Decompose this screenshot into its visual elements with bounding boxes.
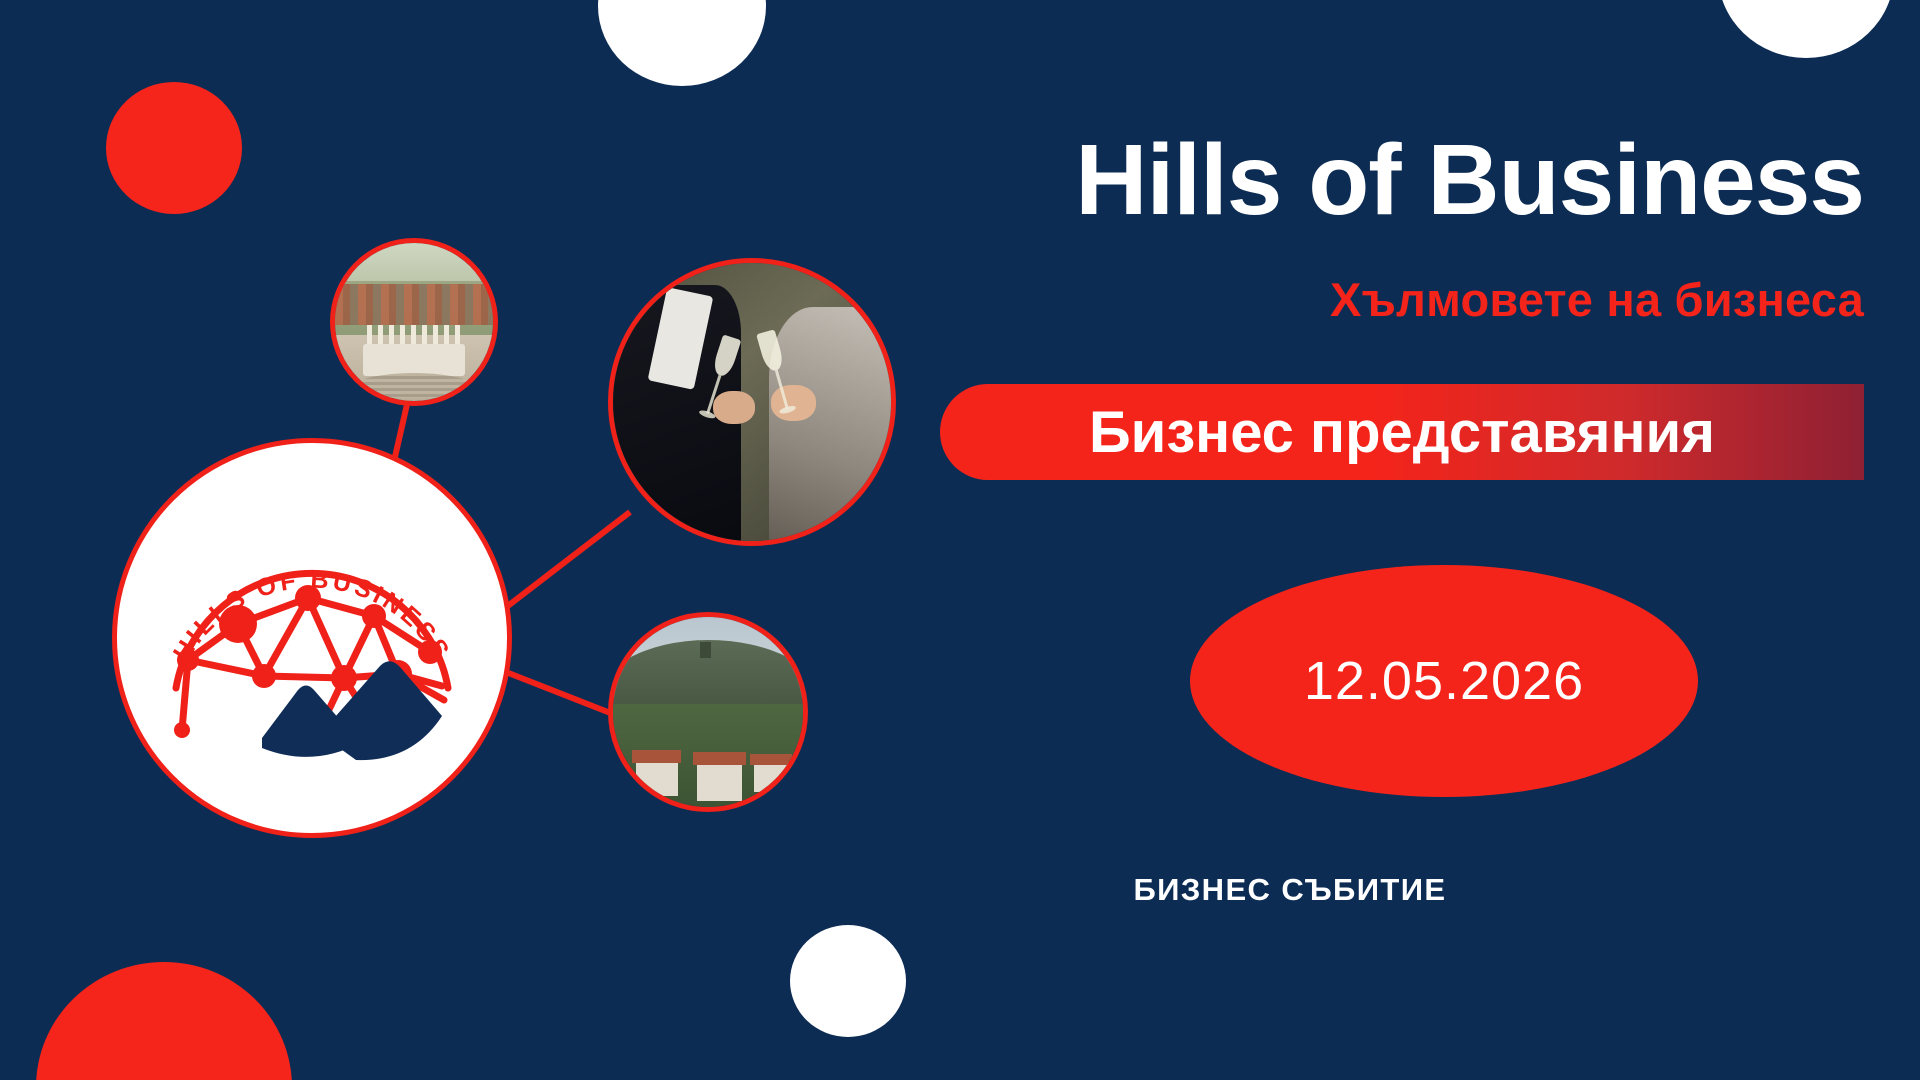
- date-label: 12.05.2026: [1304, 650, 1584, 712]
- ribbon-banner: Бизнес представяния: [940, 384, 1864, 480]
- date-badge: 12.05.2026: [1190, 565, 1698, 797]
- photo-plovdiv-amphitheatre: [330, 238, 498, 406]
- logo-hills-of-business: HILLS OF BUSINESS: [112, 438, 512, 838]
- logo-artwork: HILLS OF BUSINESS: [112, 438, 512, 838]
- ribbon-label: Бизнес представяния: [1089, 399, 1715, 466]
- page-subtitle: Хълмовете на бизнеса: [840, 272, 1864, 327]
- photo-plovdiv-hill-houses: [608, 612, 808, 812]
- page-title: Hills of Business: [840, 128, 1864, 233]
- promo-banner: HILLS OF BUSINESS Hills of Business Хълм…: [0, 0, 1920, 1080]
- event-kicker: БИЗНЕС СЪБИТИЕ: [940, 872, 1640, 908]
